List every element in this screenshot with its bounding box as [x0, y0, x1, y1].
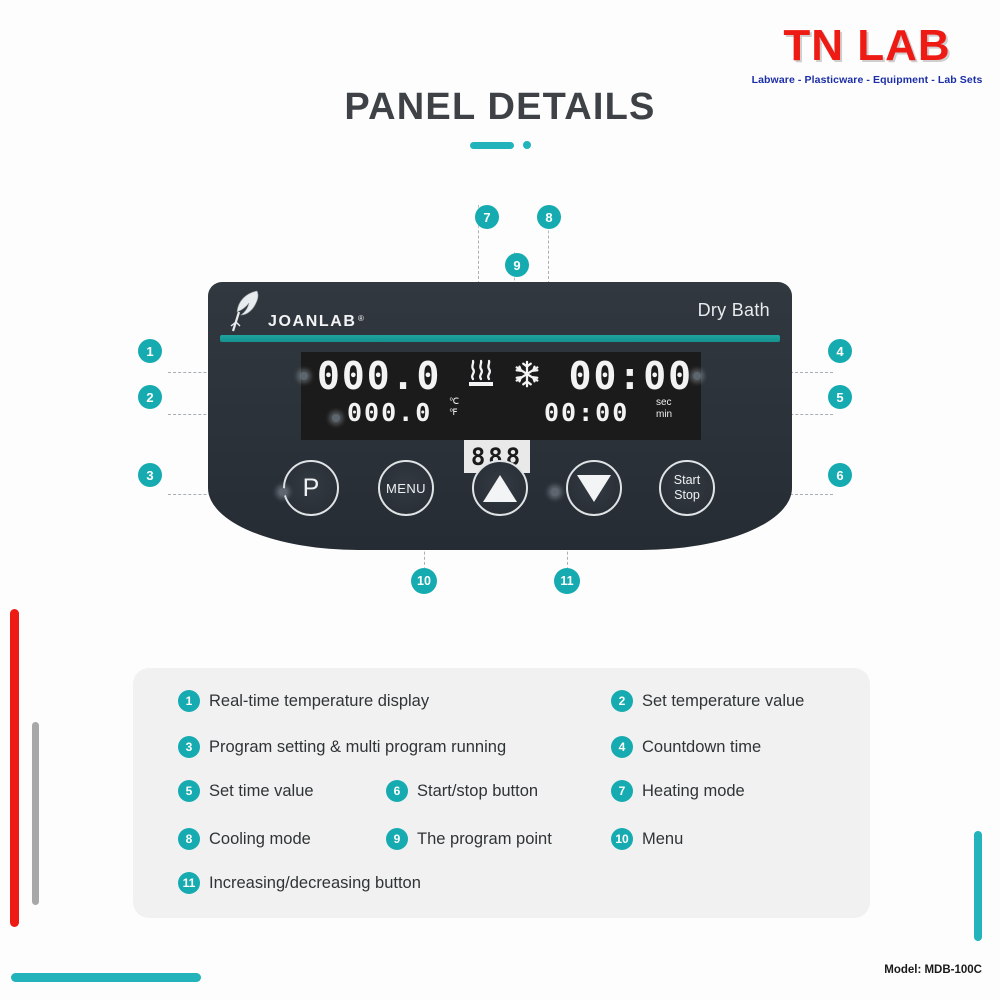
legend-item-2: 2 Set temperature value: [611, 690, 804, 712]
callout-badge-4: 4: [828, 339, 852, 363]
callout-badge-11: 11: [554, 568, 580, 594]
legend-item-4: 4 Countdown time: [611, 736, 761, 758]
callout-badge-3: 3: [138, 463, 162, 487]
legend-number-8: 8: [178, 828, 200, 850]
control-panel: JOANLAB® Dry Bath 000.0: [208, 282, 792, 550]
accent-divider: [220, 335, 780, 342]
page-root: TN LAB Labware - Plasticware - Equipment…: [0, 0, 1000, 1000]
legend-text-3: Program setting & multi program running: [209, 738, 506, 757]
program-button-label: P: [303, 475, 320, 501]
min-label: min: [656, 409, 672, 421]
set-temperature-value: 000.0: [347, 398, 432, 428]
product-label: Dry Bath: [698, 300, 770, 321]
legend-text-5: Set time value: [209, 782, 314, 801]
legend-number-3: 3: [178, 736, 200, 758]
indicator-dot-left-top: [300, 372, 308, 380]
legend-item-5: 5 Set time value: [178, 780, 314, 802]
realtime-temperature-value: 000.0: [317, 354, 441, 398]
legend-text-6: Start/stop button: [417, 782, 538, 801]
menu-button[interactable]: MENU: [378, 460, 434, 516]
legend-item-10: 10 Menu: [611, 828, 683, 850]
legend-item-9: 9 The program point: [386, 828, 552, 850]
start-label: Start: [674, 473, 700, 487]
legend-text-2: Set temperature value: [642, 692, 804, 711]
celsius-label: ℃: [449, 396, 459, 407]
legend-text-11: Increasing/decreasing button: [209, 874, 421, 893]
time-unit-labels: sec min: [656, 397, 672, 421]
legend-item-8: 8 Cooling mode: [178, 828, 311, 850]
title-underline: [0, 141, 1000, 149]
snowflake-icon: [512, 358, 542, 390]
legend-number-11: 11: [178, 872, 200, 894]
decor-gray-bar: [32, 722, 39, 905]
callout-badge-1: 1: [138, 339, 162, 363]
fahrenheit-label: ℉: [449, 407, 459, 418]
brand-tagline: Labware - Plasticware - Equipment - Lab …: [748, 74, 986, 86]
sec-label: sec: [656, 397, 672, 409]
callout-badge-5: 5: [828, 385, 852, 409]
indicator-dot-left-bottom: [332, 414, 340, 422]
decrease-button[interactable]: [566, 460, 622, 516]
legend-item-11: 11 Increasing/decreasing button: [178, 872, 421, 894]
quill-feather-icon: [230, 288, 264, 332]
legend-text-7: Heating mode: [642, 782, 745, 801]
brand-logo: TN LAB Labware - Plasticware - Equipment…: [748, 22, 986, 86]
menu-button-label: MENU: [386, 481, 426, 496]
joanlab-wordmark: JOANLAB®: [268, 312, 366, 332]
legend-item-6: 6 Start/stop button: [386, 780, 538, 802]
legend-item-7: 7 Heating mode: [611, 780, 745, 802]
legend-text-9: The program point: [417, 830, 552, 849]
underline-bar: [470, 142, 514, 149]
lcd-bottom-row: 000.0 ℃ ℉ 888 00:00 sec min: [301, 396, 701, 438]
legend-item-3: 3 Program setting & multi program runnin…: [178, 736, 506, 758]
joanlab-logo: JOANLAB®: [230, 288, 366, 332]
legend-text-8: Cooling mode: [209, 830, 311, 849]
legend-number-10: 10: [611, 828, 633, 850]
lcd-top-row: 000.0: [301, 354, 701, 398]
callout-badge-2: 2: [138, 385, 162, 409]
legend-number-6: 6: [386, 780, 408, 802]
callout-badge-8: 8: [537, 205, 561, 229]
stop-label: Stop: [674, 488, 700, 502]
brand-name: TN LAB: [748, 22, 986, 70]
legend-text-1: Real-time temperature display: [209, 692, 429, 711]
callout-badge-6: 6: [828, 463, 852, 487]
legend-text-10: Menu: [642, 830, 683, 849]
start-stop-button[interactable]: Start Stop: [659, 460, 715, 516]
decor-red-bar: [10, 609, 19, 927]
legend-number-9: 9: [386, 828, 408, 850]
callout-badge-7: 7: [475, 205, 499, 229]
decor-teal-bar-right: [974, 831, 982, 941]
page-title: PANEL DETAILS: [0, 86, 1000, 129]
legend-number-4: 4: [611, 736, 633, 758]
legend-panel: 1 Real-time temperature display 2 Set te…: [133, 668, 870, 918]
underline-dot: [523, 141, 531, 149]
decor-teal-bar-bottom: [11, 973, 201, 982]
legend-number-1: 1: [178, 690, 200, 712]
legend-number-5: 5: [178, 780, 200, 802]
set-time-value: 00:00: [544, 398, 629, 428]
legend-number-2: 2: [611, 690, 633, 712]
temperature-unit-labels: ℃ ℉: [449, 396, 459, 418]
lcd-display: 000.0: [301, 352, 701, 440]
heating-mode-icon: [466, 358, 496, 390]
legend-text-4: Countdown time: [642, 738, 761, 757]
increase-button[interactable]: [472, 460, 528, 516]
control-panel-face: JOANLAB® Dry Bath 000.0: [208, 282, 792, 550]
triangle-up-icon: [483, 475, 517, 502]
callout-badge-10: 10: [411, 568, 437, 594]
indicator-dot-program-button: [279, 488, 287, 496]
indicator-dot-center: [551, 488, 559, 496]
legend-number-7: 7: [611, 780, 633, 802]
triangle-down-icon: [577, 475, 611, 502]
indicator-dot-right-top: [693, 372, 701, 380]
program-button[interactable]: P: [283, 460, 339, 516]
callout-badge-9: 9: [505, 253, 529, 277]
legend-item-1: 1 Real-time temperature display: [178, 690, 429, 712]
countdown-time-value: 00:00: [569, 354, 693, 398]
model-label: Model: MDB-100C: [884, 964, 982, 976]
